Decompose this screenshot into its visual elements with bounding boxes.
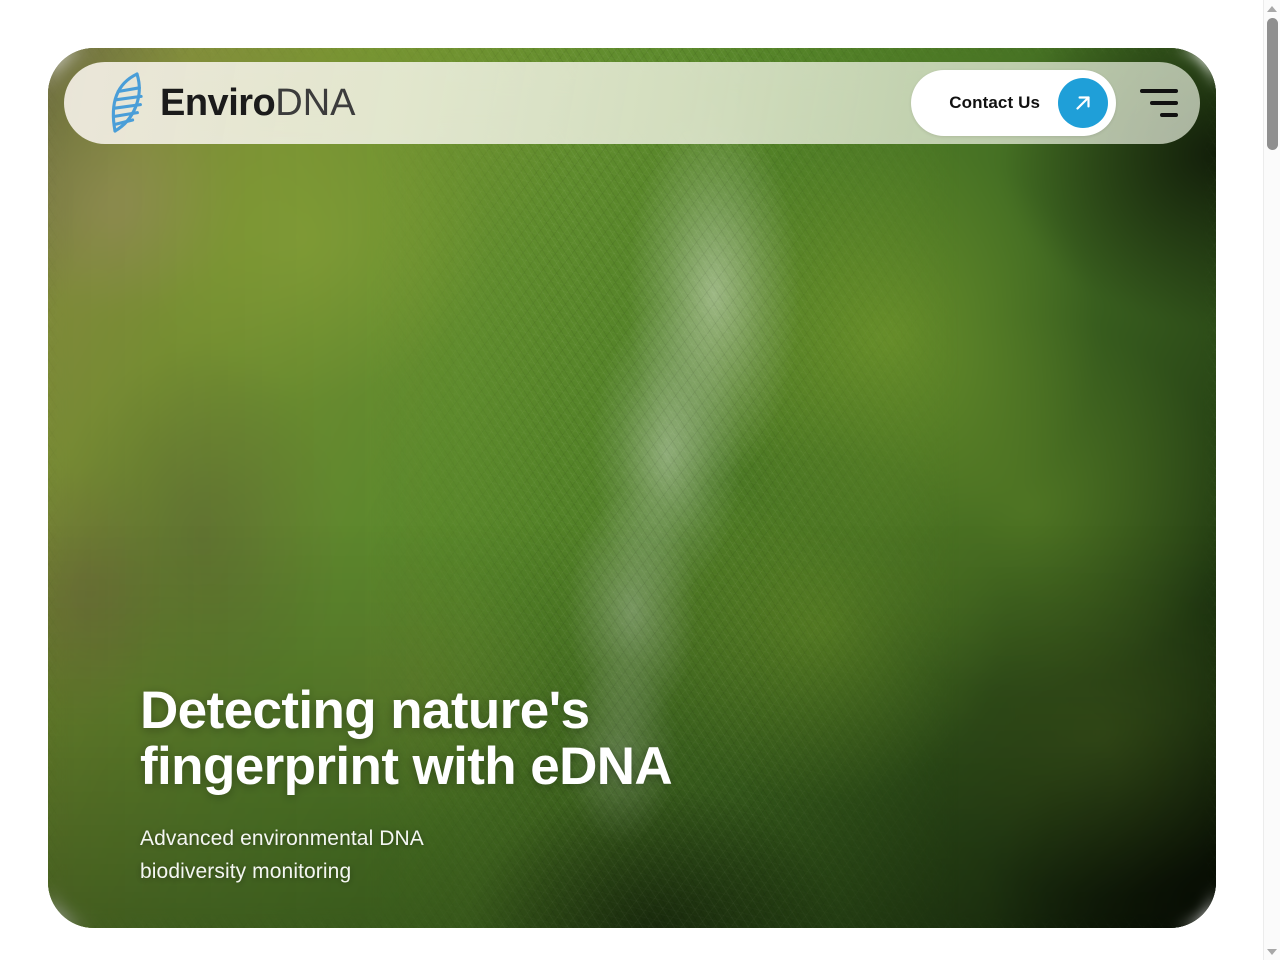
hamburger-menu-button[interactable] [1128, 75, 1184, 131]
hamburger-line-2 [1150, 101, 1178, 105]
page-title: Detecting nature's fingerprint with eDNA [140, 683, 900, 795]
hamburger-line-3 [1160, 113, 1178, 117]
arrow-up-right-icon [1072, 92, 1094, 114]
brand-wordmark: EnviroDNA [160, 84, 355, 122]
dna-helix-leaf-icon [104, 70, 148, 136]
contact-us-arrow-circle [1058, 78, 1108, 128]
browser-viewport: Detecting nature's fingerprint with eDNA… [0, 0, 1280, 960]
scrollbar-thumb[interactable] [1267, 18, 1278, 150]
hero-copy: Detecting nature's fingerprint with eDNA… [140, 683, 900, 888]
contact-us-label: Contact Us [949, 93, 1040, 113]
contact-us-button[interactable]: Contact Us [911, 70, 1116, 136]
brand-logo[interactable]: EnviroDNA [104, 70, 355, 136]
hero-subtitle: Advanced environmental DNA biodiversity … [140, 822, 900, 888]
hamburger-line-1 [1140, 89, 1178, 93]
scroll-up-arrow-icon[interactable] [1264, 0, 1280, 17]
brand-name-light: DNA [275, 84, 355, 122]
scroll-down-arrow-icon[interactable] [1264, 943, 1280, 960]
page-scrollbar[interactable] [1263, 0, 1280, 960]
site-header: EnviroDNA Contact Us [64, 62, 1200, 144]
brand-name-bold: Enviro [160, 84, 275, 122]
hero-card: Detecting nature's fingerprint with eDNA… [48, 48, 1216, 928]
